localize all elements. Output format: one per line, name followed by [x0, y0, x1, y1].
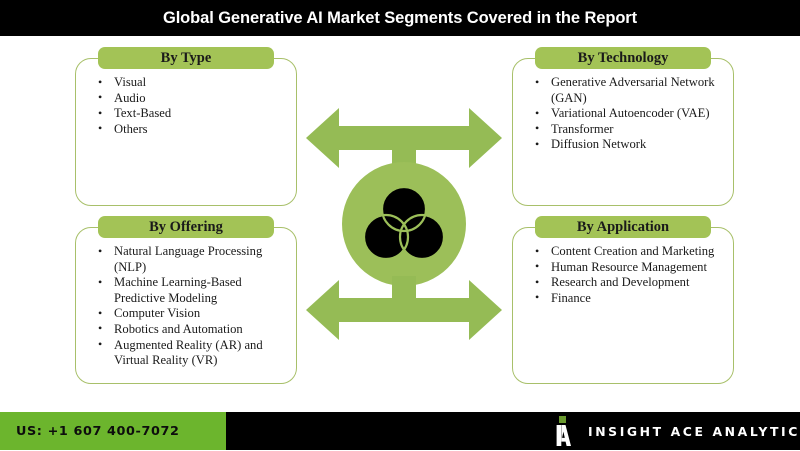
list-item: Text-Based — [112, 106, 286, 122]
card-header-by-technology: By Technology — [535, 47, 711, 69]
bottom-arrow-icon — [306, 276, 502, 340]
footer-brand-name: INSIGHT ACE ANALYTIC — [588, 424, 800, 439]
list-item: Human Resource Management — [549, 260, 723, 276]
card-title-by-offering: By Offering — [149, 219, 223, 236]
list-item: Transformer — [549, 122, 723, 138]
segment-card-by-offering: By Offering Natural Language Processing … — [75, 227, 297, 384]
card-header-by-type: By Type — [98, 47, 274, 69]
list-item: Content Creation and Marketing — [549, 244, 723, 260]
footer-phone-block: US: +1 607 400-7072 — [0, 412, 226, 450]
segment-list-by-technology: Generative Adversarial Network (GAN) Var… — [513, 59, 733, 153]
list-item: Variational Autoencoder (VAE) — [549, 106, 723, 122]
footer-bar: US: +1 607 400-7072 INSIGHT ACE ANALYTIC — [0, 412, 800, 450]
list-item: Computer Vision — [112, 306, 286, 322]
footer-brand: INSIGHT ACE ANALYTIC — [552, 412, 800, 450]
card-title-by-application: By Application — [577, 219, 669, 236]
segment-list-by-type: Visual Audio Text-Based Others — [76, 59, 296, 137]
card-title-by-type: By Type — [161, 50, 212, 67]
list-item: Machine Learning-Based Predictive Modeli… — [112, 275, 286, 306]
list-item: Research and Development — [549, 275, 723, 291]
segment-list-by-offering: Natural Language Processing (NLP) Machin… — [76, 228, 296, 369]
list-item: Visual — [112, 75, 286, 91]
segment-card-by-application: By Application Content Creation and Mark… — [512, 227, 734, 384]
card-header-by-offering: By Offering — [98, 216, 274, 238]
list-item: Diffusion Network — [549, 137, 723, 153]
list-item: Others — [112, 122, 286, 138]
card-title-by-technology: By Technology — [578, 50, 669, 67]
page-title: Global Generative AI Market Segments Cov… — [163, 9, 637, 28]
list-item: Augmented Reality (AR) and Virtual Reali… — [112, 338, 286, 369]
segment-card-by-type: By Type Visual Audio Text-Based Others — [75, 58, 297, 206]
list-item: Generative Adversarial Network (GAN) — [549, 75, 723, 106]
segment-list-by-application: Content Creation and Marketing Human Res… — [513, 228, 733, 306]
title-bar: Global Generative AI Market Segments Cov… — [0, 0, 800, 36]
list-item: Audio — [112, 91, 286, 107]
list-item: Finance — [549, 291, 723, 307]
card-header-by-application: By Application — [535, 216, 711, 238]
list-item: Robotics and Automation — [112, 322, 286, 338]
footer-phone-number: US: +1 607 400-7072 — [0, 424, 179, 439]
infographic-canvas: By Type Visual Audio Text-Based Others B… — [0, 36, 800, 412]
list-item: Natural Language Processing (NLP) — [112, 244, 286, 275]
central-hub — [306, 100, 502, 348]
insight-ace-logo-icon — [552, 416, 572, 446]
segment-card-by-technology: By Technology Generative Adversarial Net… — [512, 58, 734, 206]
